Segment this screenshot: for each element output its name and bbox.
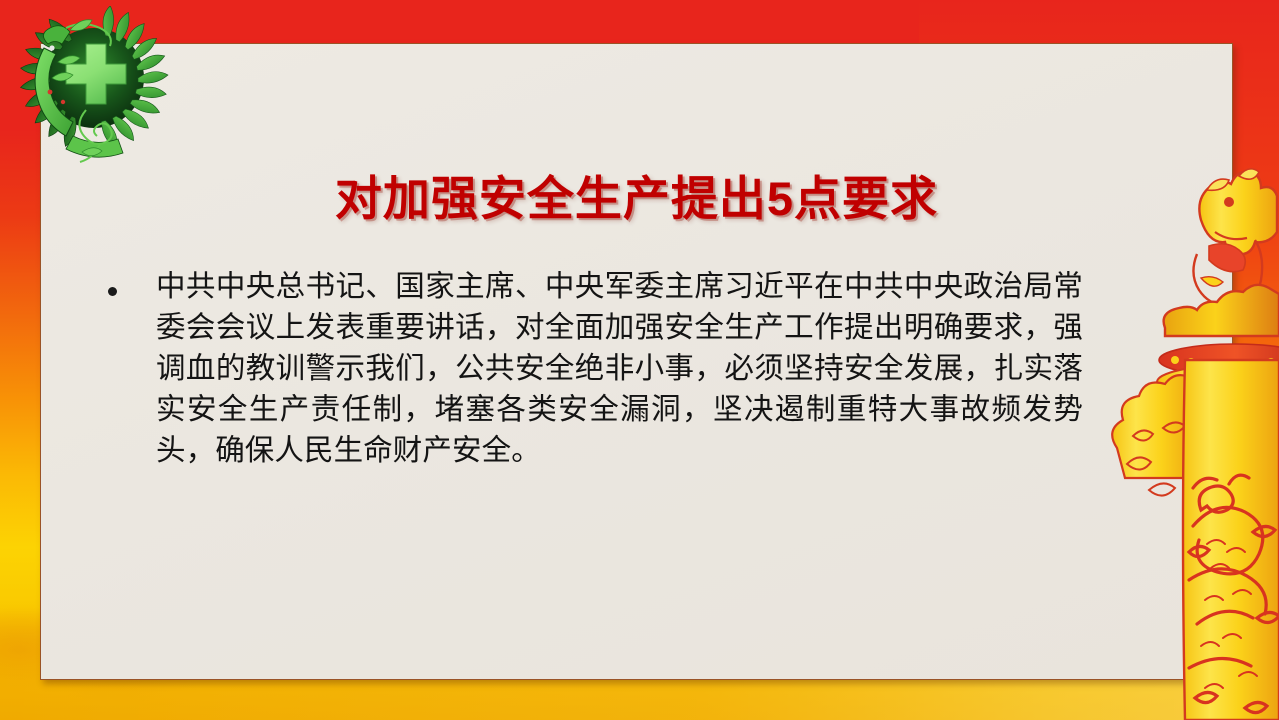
bullet-item-text: 中共中央总书记、国家主席、中央军委主席习近平在中共中央政治局常委会会议上发表重要… — [156, 266, 1083, 471]
huabiao-column-ornament — [1089, 128, 1279, 720]
column-beast-figure — [1193, 169, 1277, 305]
presentation-slide: 对加强安全生产提出5点要求 中共中央总书记、国家主席、中央军委主席习近平在中共中… — [0, 0, 1279, 720]
bullet-list-item: 中共中央总书记、国家主席、中央军委主席习近平在中共中央政治局常委会会议上发表重要… — [108, 266, 1083, 471]
page-title: 对加强安全生产提出5点要求 — [40, 160, 1233, 229]
safety-wreath-cross-logo — [14, 6, 174, 171]
bullet-point-icon — [108, 287, 117, 296]
column-shaft — [1183, 360, 1279, 720]
